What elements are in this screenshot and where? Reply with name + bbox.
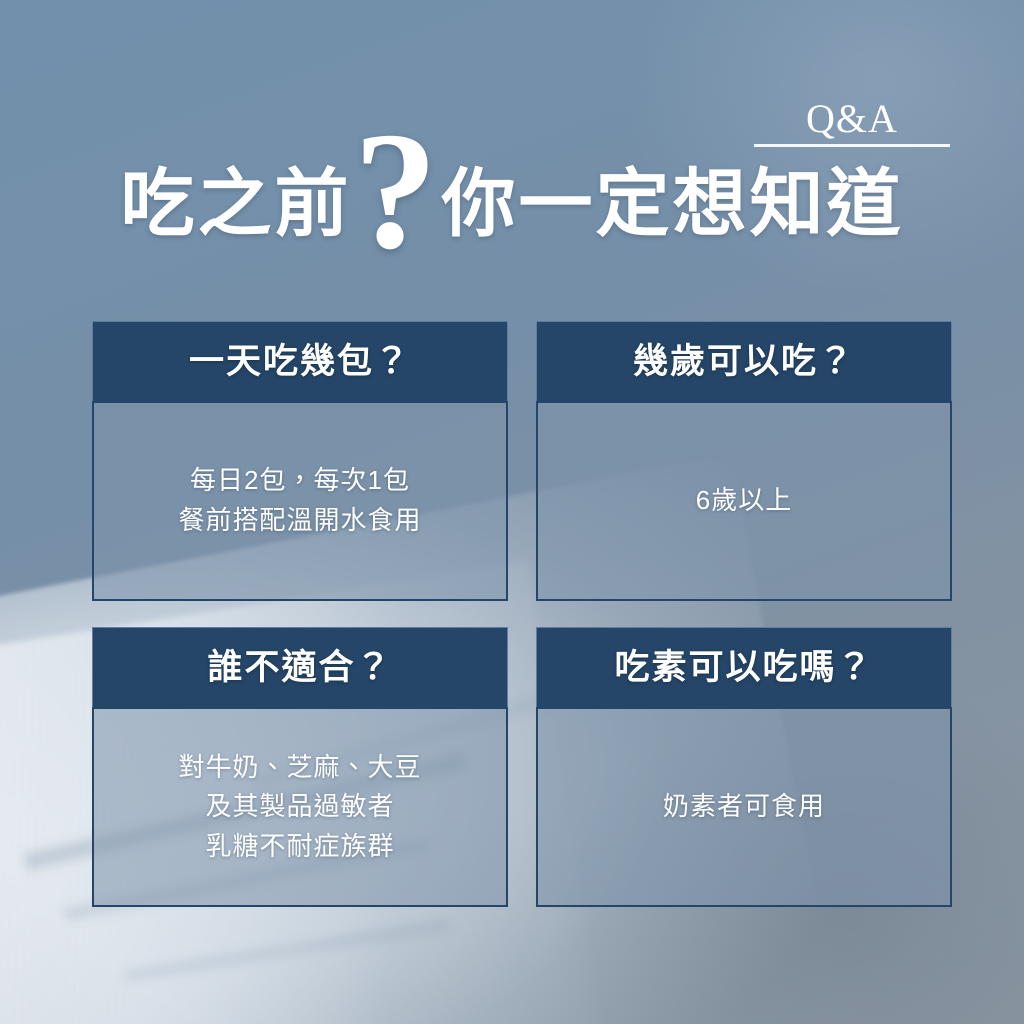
qa-badge: Q&A (754, 98, 950, 140)
header: Q&A 吃之前 ? 你一定想知道 (0, 0, 1024, 300)
qa-card-header: 一天吃幾包？ (92, 321, 508, 401)
page-title: 吃之前 ? 你一定想知道 (0, 150, 1024, 260)
qa-card-age: 幾歲可以吃？ 6歲以上 (536, 321, 952, 601)
headline-before: 吃之前 (121, 168, 352, 242)
qa-card-header: 誰不適合？ (92, 627, 508, 707)
qa-card-header: 吃素可以吃嗎？ (536, 627, 952, 707)
qa-question-text: 吃素可以吃嗎？ (614, 650, 873, 685)
qa-answer-line: 乳糖不耐症族群 (205, 827, 394, 867)
qa-card-body: 每日2包，每次1包 餐前搭配溫開水食用 (92, 401, 508, 601)
qa-badge-underline (754, 144, 950, 147)
qa-card-body: 奶素者可食用 (536, 707, 952, 907)
qa-question-text: 幾歲可以吃？ (633, 344, 855, 379)
qa-card-vegetarian: 吃素可以吃嗎？ 奶素者可食用 (536, 627, 952, 907)
qa-card-contraindication: 誰不適合？ 對牛奶、芝麻、大豆 及其製品過敏者 乳糖不耐症族群 (92, 627, 508, 907)
qa-card-body: 6歲以上 (536, 401, 952, 601)
qa-answer-line: 6歲以上 (696, 481, 792, 521)
qa-question-text: 一天吃幾包？ (189, 344, 411, 379)
qa-answer-line: 餐前搭配溫開水食用 (178, 501, 421, 541)
headline-after: 你一定想知道 (442, 168, 904, 242)
qa-answer-line: 及其製品過敏者 (205, 787, 394, 827)
qa-card-header: 幾歲可以吃？ (536, 321, 952, 401)
qa-infographic: Q&A 吃之前 ? 你一定想知道 一天吃幾包？ 每日2包，每次1包 餐前搭配溫開… (0, 0, 1024, 1024)
question-mark-icon: ? (354, 107, 438, 275)
qa-card-dosage: 一天吃幾包？ 每日2包，每次1包 餐前搭配溫開水食用 (92, 321, 508, 601)
qa-card-body: 對牛奶、芝麻、大豆 及其製品過敏者 乳糖不耐症族群 (92, 707, 508, 907)
qa-answer-line: 每日2包，每次1包 (190, 461, 410, 501)
qa-question-text: 誰不適合？ (207, 650, 392, 685)
qa-answer-line: 奶素者可食用 (663, 787, 825, 827)
qa-answer-line: 對牛奶、芝麻、大豆 (178, 748, 421, 788)
qa-card-grid: 一天吃幾包？ 每日2包，每次1包 餐前搭配溫開水食用 幾歲可以吃？ 6歲以上 誰… (92, 321, 952, 907)
